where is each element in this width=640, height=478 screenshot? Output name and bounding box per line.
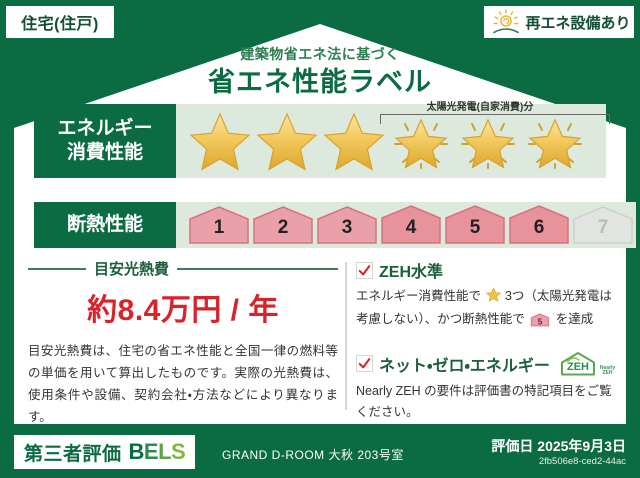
insulation-step-3: 3 [316,205,378,245]
insulation-step-label: 5 [470,217,481,245]
sun-icon [491,9,521,35]
bels-letter-s: S [171,439,185,464]
net-zero-body: Nearly ZEH の要件は評価書の特記項目をご覧ください。 [356,381,614,424]
insulation-performance-label: 断熱性能 [34,202,176,248]
star-icon-inline [486,291,504,305]
dwelling-type-badge: 住宅(住戸) [6,6,114,38]
star-icon [188,110,252,172]
evaluation-date: 評価日 2025年9月3日 [491,436,626,456]
energy-performance-row: エネルギー 消費性能 [34,104,606,178]
insulation-badge-inline: 5 [530,316,553,330]
insulation-step-label: 1 [214,217,225,245]
insulation-step-label: 2 [278,217,289,245]
rule-left [28,268,86,270]
energy-star-rating [176,104,606,178]
bels-letter-l: L [158,439,171,464]
cost-heading-text: 目安光熱費 [94,258,169,279]
net-zero-energy-block: ネット・ゼロ・エネルギー ZEH Nearly ZEH Nearly ZEH の… [356,351,614,424]
property-info: GRAND D-ROOM 大秋 203号室 [222,446,404,463]
column-divider [345,262,347,410]
svg-text:5: 5 [538,318,543,327]
rule-right [177,268,338,270]
zeh-logo-sub-line2: ZEH [603,370,613,376]
star-icon-solar [456,110,520,172]
evaluation-date-label: 評価日 [491,438,533,454]
bels-logo: 第三者評価 BELS [14,435,195,469]
insulation-step-2: 2 [252,205,314,245]
star-icon-solar [389,110,453,172]
zeh-standard-block: ZEH水準 エネルギー消費性能で 3つ（太陽光発電は考慮しない）、かつ断熱性能で… [356,258,614,335]
bels-en-text: BELS [129,439,186,465]
estimated-utility-cost-block: 目安光熱費 約8.4万円 / 年 目安光熱費は、住宅の省エネ性能と全国一律の燃料… [28,258,338,429]
energy-performance-label: エネルギー 消費性能 [34,104,176,178]
insulation-step-label: 4 [406,217,417,245]
bels-letter-e: E [144,439,158,464]
bels-jp-text: 第三者評価 [24,439,122,466]
energy-label-line1: エネルギー [57,117,152,141]
energy-label-line2: 消費性能 [67,141,143,165]
cost-disclaimer: 目安光熱費は、住宅の省エネ性能と全国一律の燃料等の単価を用いて算出したものです。… [28,341,338,429]
check-icon [356,262,373,279]
insulation-step-7: 7 [572,205,634,245]
zeh-standard-heading: ZEH水準 [356,258,614,282]
energy-performance-label: 住宅(住戸) 再エネ設備あり 建築物省エネ法に基づく 省エネ性能 [0,0,640,478]
star-icon [255,110,319,172]
cost-amount: 約8.4万円 / 年 [28,285,338,329]
renewable-equipment-badge: 再エネ設備あり [484,6,634,38]
insulation-step-4: 4 [380,205,442,245]
insulation-step-label: 6 [534,217,545,245]
bels-letter-b: B [129,439,144,464]
insulation-step-6: 6 [508,205,570,245]
star-icon [322,110,386,172]
check-icon [356,355,373,372]
zeh-standard-body: エネルギー消費性能で 3つ（太陽光発電は考慮しない）、かつ断熱性能で 5 を達成 [356,286,614,335]
insulation-rating-scale: 1 2 3 4 5 6 7 [176,202,636,248]
insulation-step-5: 5 [444,205,506,245]
insulation-step-1: 1 [188,205,250,245]
zeh-logo: ZEH Nearly ZEH [558,351,615,377]
net-zero-heading: ネット・ゼロ・エネルギー ZEH Nearly ZEH [356,351,614,377]
zeh-house-icon: ZEH [558,351,598,377]
zeh-body-part1: エネルギー消費性能で [356,289,481,303]
zeh-body-part3: を達成 [556,312,594,326]
cost-heading: 目安光熱費 [28,258,338,279]
insulation-performance-row: 断熱性能 1 2 3 4 5 6 [34,202,606,248]
evaluation-id: 2fb506e8-ced2-44ac [539,456,626,467]
renewable-badge-label: 再エネ設備あり [525,12,630,33]
page-title: 省エネ性能ラベル [0,60,640,99]
svg-text:ZEH: ZEH [567,361,589,373]
star-icon-solar [523,110,587,172]
net-zero-title: ネット・ゼロ・エネルギー [379,352,550,376]
insulation-step-label: 7 [598,217,609,245]
evaluation-date-value: 2025年9月3日 [537,438,626,454]
insulation-step-label: 3 [342,217,353,245]
zeh-criteria-column: ZEH水準 エネルギー消費性能で 3つ（太陽光発電は考慮しない）、かつ断熱性能で… [356,258,614,423]
zeh-logo-subtext: Nearly ZEH [600,366,615,377]
zeh-standard-title: ZEH水準 [379,258,443,282]
label-footer: 第三者評価 BELS GRAND D-ROOM 大秋 203号室 評価日 202… [0,428,640,478]
